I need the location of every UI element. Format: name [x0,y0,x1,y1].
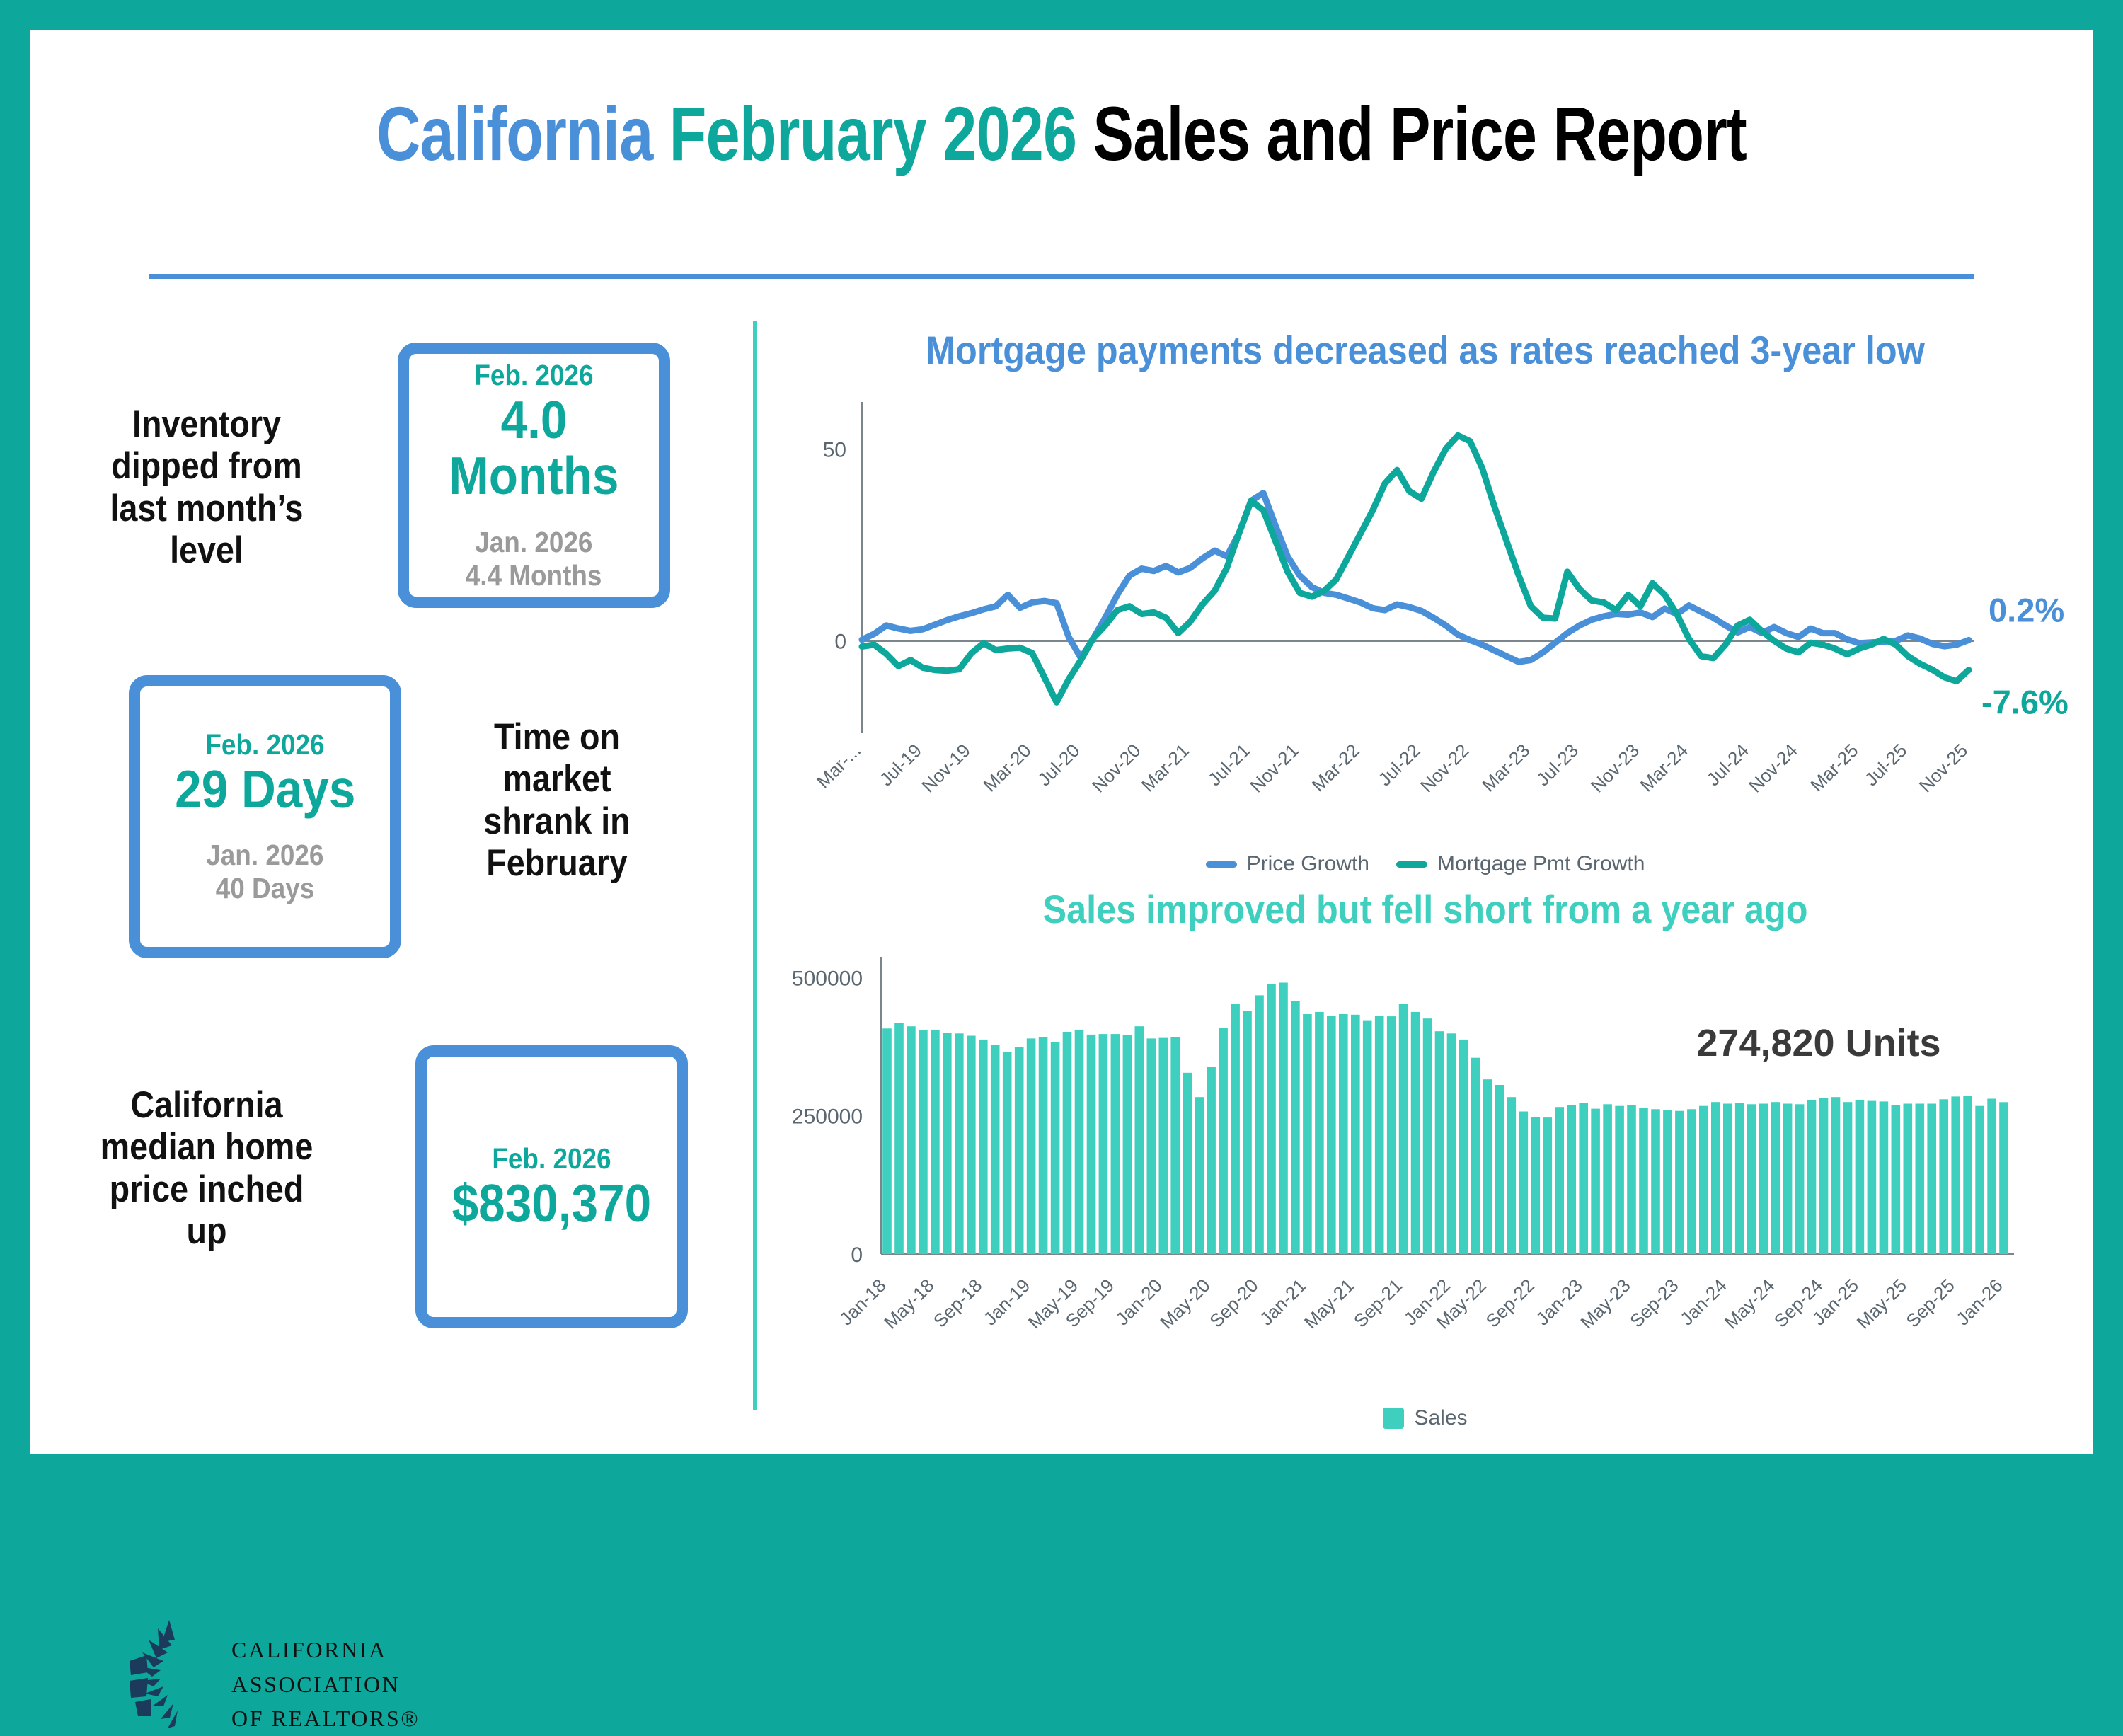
bar [1663,1110,1672,1254]
bar [1303,1014,1312,1254]
bar [991,1045,1000,1254]
bar [1723,1104,1732,1255]
bar [1819,1098,1829,1254]
bar [894,1023,904,1255]
bar [1963,1096,1972,1254]
bar-chart-units-annotation: 274,820 Units [1696,1022,1940,1064]
bar-chart-ytick: 0 [851,1243,863,1267]
line-chart-xtick: Nov-25 [1915,740,1972,796]
bar-chart-xtick: May-21 [1300,1275,1359,1333]
stat-box-time-on-market: Feb. 2026 29 Days Jan. 2026 40 Days [129,675,401,958]
line-chart-endlabel-mortgage-pmt-growth: -7.6% [1981,684,2069,721]
bar [1255,995,1264,1254]
stats-column: Inventory dipped from last month’s level… [30,313,752,1417]
bar [1291,1001,1300,1254]
bar [1519,1112,1529,1255]
bar-chart-xtick: Jan-24 [1676,1275,1730,1329]
bar [1831,1097,1841,1254]
infographic-card: California February 2026 Sales and Price… [30,30,2093,1454]
bar [1795,1104,1805,1254]
stat-prev-month-inventory: Jan. 2026 [475,526,592,559]
line-chart-xtick: Mar-... [812,740,865,792]
line-chart-xtick: Nov-21 [1245,740,1302,796]
bar [1951,1096,1960,1254]
bar [1243,1011,1252,1254]
bar [1807,1100,1817,1254]
bar [1904,1104,1913,1255]
mortgage-payment-line-chart: 050Mar-...Jul-19Nov-19Mar-20Jul-20Nov-20… [757,398,2093,865]
car-logo-block: CALIFORNIA ASSOCIATION OF REALTORS® www.… [125,1619,734,1732]
bar [1267,984,1276,1254]
legend-item-price-growth[interactable]: Price Growth [1206,852,1369,876]
stat-value-price: $830,370 [452,1175,652,1232]
page-title: California February 2026 Sales and Price… [30,93,2093,173]
bar [1135,1026,1144,1254]
bar-chart-xtick: Sep-18 [929,1275,986,1331]
bar [1039,1037,1048,1254]
bar [1999,1102,2008,1254]
report-title: California February 2026 Sales and Price… [236,93,1887,173]
line-chart-title: Mortgage payments decreased as rates rea… [824,327,2026,373]
bar [1579,1103,1588,1254]
bar [979,1040,988,1254]
bar-chart-xtick: Jan-19 [979,1275,1034,1329]
legend-dash-price-growth [1206,861,1237,868]
line-chart-xtick: Mar-22 [1307,740,1363,795]
bar-chart-xtick: Jan-26 [1952,1275,2006,1329]
bar [1747,1104,1756,1254]
bar [1327,1016,1336,1254]
legend-label-mortgage-pmt-growth: Mortgage Pmt Growth [1437,852,1645,876]
line-series-mortgage-pmt-growth [862,435,1969,702]
stat-month-dom: Feb. 2026 [205,728,324,761]
bar [1207,1067,1216,1254]
bar [919,1030,928,1254]
bar [1687,1109,1696,1254]
bar [1699,1106,1708,1254]
bar [1159,1038,1168,1254]
bar [1759,1104,1768,1255]
bar-chart-title: Sales improved but fell short from a yea… [824,886,2026,932]
bar-chart-xtick: Sep-22 [1482,1275,1538,1331]
bar-chart-xtick: Jan-18 [835,1275,890,1329]
bar [1856,1100,1865,1254]
stat-month-inventory: Feb. 2026 [474,359,593,392]
line-series-price-growth [862,493,1969,662]
bar [1471,1058,1480,1254]
legend-dash-mortgage-pmt-growth [1396,861,1427,868]
bar [1003,1052,1012,1254]
legend-item-sales[interactable]: Sales [1383,1406,1467,1430]
car-logo-icon [125,1619,217,1728]
line-chart-xtick: Nov-24 [1744,740,1801,796]
charts-column: Mortgage payments decreased as rates rea… [757,313,2093,1431]
bar [1675,1111,1684,1254]
line-chart-xtick: Nov-19 [917,740,974,796]
bar-chart-legend: Sales [757,1406,2093,1430]
bar [1015,1047,1024,1254]
legend-item-mortgage-pmt-growth[interactable]: Mortgage Pmt Growth [1396,852,1645,876]
bar-chart-xtick: May-24 [1720,1275,1779,1333]
line-chart-legend: Price Growth Mortgage Pmt Growth [757,852,2093,876]
line-chart-ytick: 0 [834,631,846,654]
line-chart-xtick: Mar-20 [979,740,1035,795]
bar [1555,1107,1564,1254]
bar [1195,1097,1204,1254]
bar [1927,1104,1936,1255]
line-chart-xtick: Jul-20 [1033,740,1083,790]
bar [1603,1104,1612,1254]
bar-chart-xtick: Jan-20 [1112,1275,1166,1329]
bar [1063,1032,1072,1254]
line-chart-xtick: Jul-25 [1860,740,1911,790]
bar [1531,1117,1541,1254]
bar [1027,1038,1036,1254]
bar [1615,1106,1624,1254]
logo-line-1: CALIFORNIA [231,1633,420,1667]
stat-prev-value-dom: 40 Days [216,872,315,905]
bar [1087,1035,1096,1254]
bar [1339,1014,1348,1254]
line-chart-ytick: 50 [823,438,846,461]
line-chart-svg: 050Mar-...Jul-19Nov-19Mar-20Jul-20Nov-20… [757,398,2093,865]
bar [1543,1117,1553,1254]
infographic-page: California February 2026 Sales and Price… [0,0,2123,1484]
bar [1411,1012,1420,1254]
bar [955,1033,964,1254]
bar-chart-ytick: 500000 [792,967,863,990]
bar [1399,1004,1408,1254]
bar-chart-xtick: Jan-21 [1255,1275,1310,1329]
bar [1939,1099,1948,1254]
bar [1591,1109,1600,1254]
title-divider-rule [149,274,1974,279]
bar-chart-xtick: May-25 [1853,1275,1911,1333]
bar-chart-xtick: Sep-25 [1902,1275,1959,1331]
line-chart-xtick: Nov-22 [1416,740,1473,796]
bar [1771,1102,1780,1254]
bar [1351,1015,1360,1254]
logo-line-2: ASSOCIATION [231,1667,420,1702]
bar [1123,1035,1132,1254]
marketdata-url-link[interactable]: www.car.org/marketdata [529,1675,784,1703]
line-chart-endlabel-price-growth: 0.2% [1989,591,2064,628]
bar [1447,1033,1456,1254]
line-chart-xtick: Mar-25 [1806,740,1862,795]
line-chart-xtick: Jul-23 [1532,740,1582,790]
bar [1735,1103,1744,1254]
bar-chart-svg: 0250000500000Jan-18May-18Sep-18Jan-19May… [757,950,2093,1403]
stat-prev-month-dom: Jan. 2026 [206,839,323,872]
line-chart-xtick: Mar-23 [1478,740,1534,795]
stat-value-dom: 29 Days [175,761,355,818]
bar [1315,1012,1324,1254]
line-chart-xtick: Nov-20 [1088,740,1144,796]
car-logo-text: CALIFORNIA ASSOCIATION OF REALTORS® [231,1633,420,1736]
bar [1507,1097,1517,1254]
bar [1495,1085,1504,1254]
logo-line-3: OF REALTORS® [231,1701,420,1736]
blurb-time-on-market: Time on market shrank in February [454,716,660,884]
bar [1843,1102,1853,1254]
bar [1567,1105,1576,1254]
title-part-month: February 2026 [669,91,1093,176]
bar-chart-xtick: Sep-23 [1626,1275,1682,1331]
title-part-subject: Sales and Price Report [1093,91,1747,176]
stat-prev-value-inventory: 4.4 Months [466,559,602,592]
stat-month-price: Feb. 2026 [492,1142,611,1175]
bar [1916,1104,1925,1255]
legend-label-price-growth: Price Growth [1247,852,1369,876]
bar [1459,1040,1468,1254]
legend-swatch-sales [1383,1408,1404,1429]
bar-chart-xtick: Jan-23 [1531,1275,1586,1329]
bar [1627,1105,1636,1254]
bar [1435,1031,1444,1254]
bar [1387,1016,1396,1254]
bar [1783,1104,1793,1255]
bar [1279,983,1288,1255]
legend-label-sales: Sales [1414,1406,1467,1430]
bar [1075,1030,1084,1254]
bar [1651,1109,1660,1254]
line-chart-xtick: Mar-21 [1137,740,1193,795]
bar [1975,1106,1984,1254]
bar-chart-xtick: May-20 [1156,1275,1214,1333]
bar-chart-ytick: 250000 [792,1105,863,1129]
bar [1363,1021,1372,1254]
bar [1868,1101,1877,1254]
bar [1051,1042,1060,1254]
stat-box-median-price: Feb. 2026 $830,370 [415,1045,688,1328]
bar [1483,1079,1492,1254]
blurb-median-price: California median home price inched up [82,1084,331,1252]
bar [1111,1034,1120,1254]
stat-box-inventory: Feb. 2026 4.0 Months Jan. 2026 4.4 Month… [398,343,670,608]
bar [1183,1073,1192,1254]
bar [943,1033,952,1255]
bar-chart-xtick: Sep-20 [1205,1275,1262,1331]
blurb-inventory: Inventory dipped from last month’s level [88,403,325,571]
bar [1423,1018,1432,1254]
bar [1219,1028,1228,1255]
bar-chart-xtick: May-18 [880,1275,938,1333]
bar [1170,1037,1180,1254]
bar [1880,1101,1889,1254]
bar [1147,1038,1156,1254]
bar [907,1026,916,1254]
bar-chart-xtick: May-23 [1576,1275,1635,1333]
bar [1375,1016,1384,1254]
bar [1231,1004,1240,1254]
line-chart-xtick: Nov-23 [1587,740,1643,796]
stat-value-inventory: 4.0 Months [422,392,647,505]
bar [967,1036,976,1255]
title-part-california: California [376,91,669,176]
line-chart-xtick: Mar-24 [1635,740,1691,795]
sales-bar-chart: 0250000500000Jan-18May-18Sep-18Jan-19May… [757,950,2093,1403]
bar [931,1030,940,1254]
bar [1639,1108,1648,1254]
bar [1892,1105,1901,1254]
bar-chart-xtick: Sep-21 [1350,1275,1406,1331]
bar [1711,1102,1720,1254]
bar [1987,1099,1996,1255]
bar [1099,1034,1108,1254]
bar [882,1028,892,1254]
